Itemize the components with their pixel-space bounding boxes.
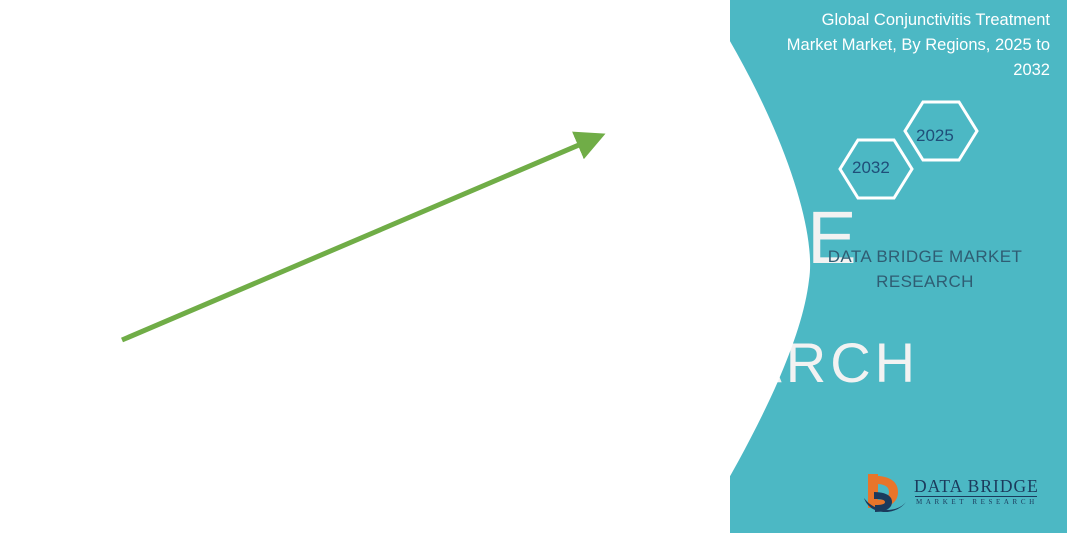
year-hexagons: 2025 2032 (820, 98, 1000, 213)
left-white-panel (0, 0, 730, 533)
brand-text: DATA BRIDGE MARKET RESEARCH (800, 244, 1050, 294)
logo-subtitle: MARKET RESEARCH (916, 498, 1038, 506)
hexagon-2025-label: 2025 (916, 126, 954, 146)
logo-rule (915, 496, 1037, 497)
hexagon-2032-label: 2032 (852, 158, 890, 178)
logo-name: DATA BRIDGE (914, 476, 1039, 497)
hexagon-shapes (820, 98, 1000, 213)
company-logo: DATA BRIDGE MARKET RESEARCH (862, 472, 1042, 520)
panel-title: Global Conjunctivitis Treatment Market M… (770, 8, 1050, 83)
logo-mark-icon (862, 472, 910, 518)
